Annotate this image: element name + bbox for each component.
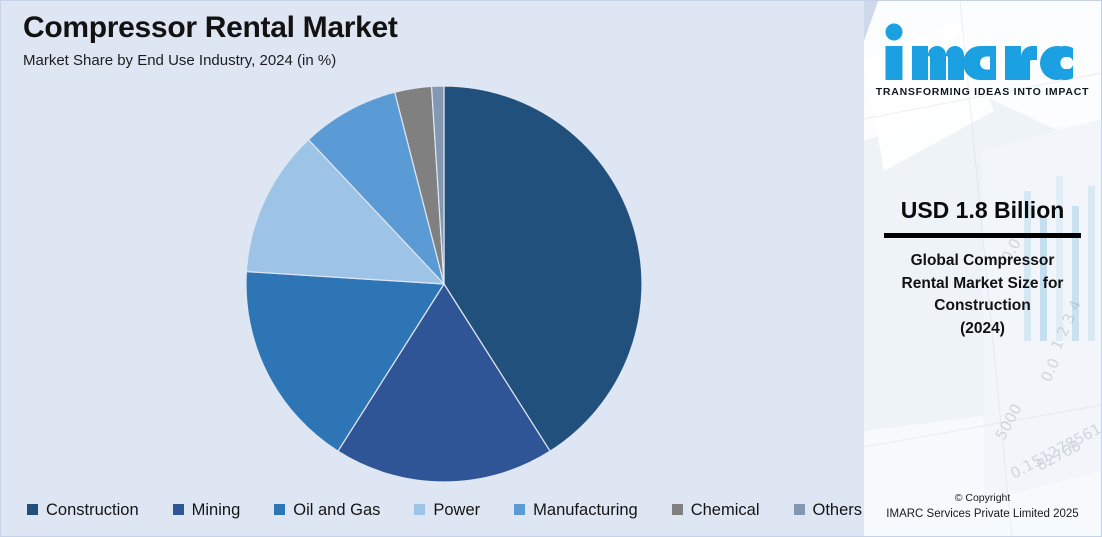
- legend-item[interactable]: Construction: [27, 502, 139, 519]
- legend-item-label: Oil and Gas: [293, 502, 380, 519]
- legend-item[interactable]: Others: [794, 502, 863, 519]
- legend-swatch-icon: [514, 504, 525, 515]
- pie-chart-svg: [244, 84, 644, 484]
- legend-swatch-icon: [274, 504, 285, 515]
- stat-caption-line-4: (2024): [876, 318, 1089, 340]
- stat-caption-line-1: Global Compressor: [876, 250, 1089, 272]
- stat-divider: [884, 233, 1081, 238]
- stat-caption-line-3: Construction: [876, 295, 1089, 317]
- stat-caption: Global Compressor Rental Market Size for…: [876, 250, 1089, 340]
- legend-item-label: Others: [813, 502, 863, 519]
- legend-swatch-icon: [27, 504, 38, 515]
- legend-item[interactable]: Power: [414, 502, 480, 519]
- chart-panel: Compressor Rental Market Market Share by…: [0, 0, 864, 537]
- chart-legend: ConstructionMiningOil and GasPowerManufa…: [27, 502, 847, 519]
- chart-subtitle: Market Share by End Use Industry, 2024 (…: [23, 52, 398, 70]
- legend-item[interactable]: Oil and Gas: [274, 502, 380, 519]
- infographic-root: Compressor Rental Market Market Share by…: [0, 0, 1102, 537]
- legend-item[interactable]: Chemical: [672, 502, 760, 519]
- copyright-notice: © Copyright IMARC Services Private Limit…: [872, 491, 1093, 523]
- legend-item-label: Power: [433, 502, 480, 519]
- pie-slice-group: [246, 86, 642, 482]
- imarc-logo-tagline: TRANSFORMING IDEAS INTO IMPACT: [864, 86, 1101, 98]
- legend-item-label: Manufacturing: [533, 502, 638, 519]
- legend-item-label: Mining: [192, 502, 241, 519]
- legend-item[interactable]: Manufacturing: [514, 502, 638, 519]
- legend-swatch-icon: [414, 504, 425, 515]
- copyright-line-1: © Copyright: [872, 491, 1093, 506]
- legend-item-label: Construction: [46, 502, 139, 519]
- legend-item-label: Chemical: [691, 502, 760, 519]
- stat-caption-line-2: Rental Market Size for: [876, 273, 1089, 295]
- stat-value: USD 1.8 Billion: [876, 197, 1089, 223]
- imarc-logo-mark: [877, 21, 1089, 83]
- legend-swatch-icon: [672, 504, 683, 515]
- page-title: Compressor Rental Market: [23, 11, 398, 46]
- stat-block: USD 1.8 Billion Global Compressor Rental…: [876, 197, 1089, 340]
- copyright-line-2: IMARC Services Private Limited 2025: [872, 506, 1093, 523]
- imarc-logo: TRANSFORMING IDEAS INTO IMPACT: [864, 21, 1101, 98]
- legend-item[interactable]: Mining: [173, 502, 241, 519]
- legend-swatch-icon: [794, 504, 805, 515]
- legend-swatch-icon: [173, 504, 184, 515]
- pie-chart: [244, 84, 644, 484]
- chart-header: Compressor Rental Market Market Share by…: [23, 11, 398, 70]
- brand-panel: 0.0 5000 0.1512785614 82768 1 2 3 4 0.0: [864, 0, 1102, 537]
